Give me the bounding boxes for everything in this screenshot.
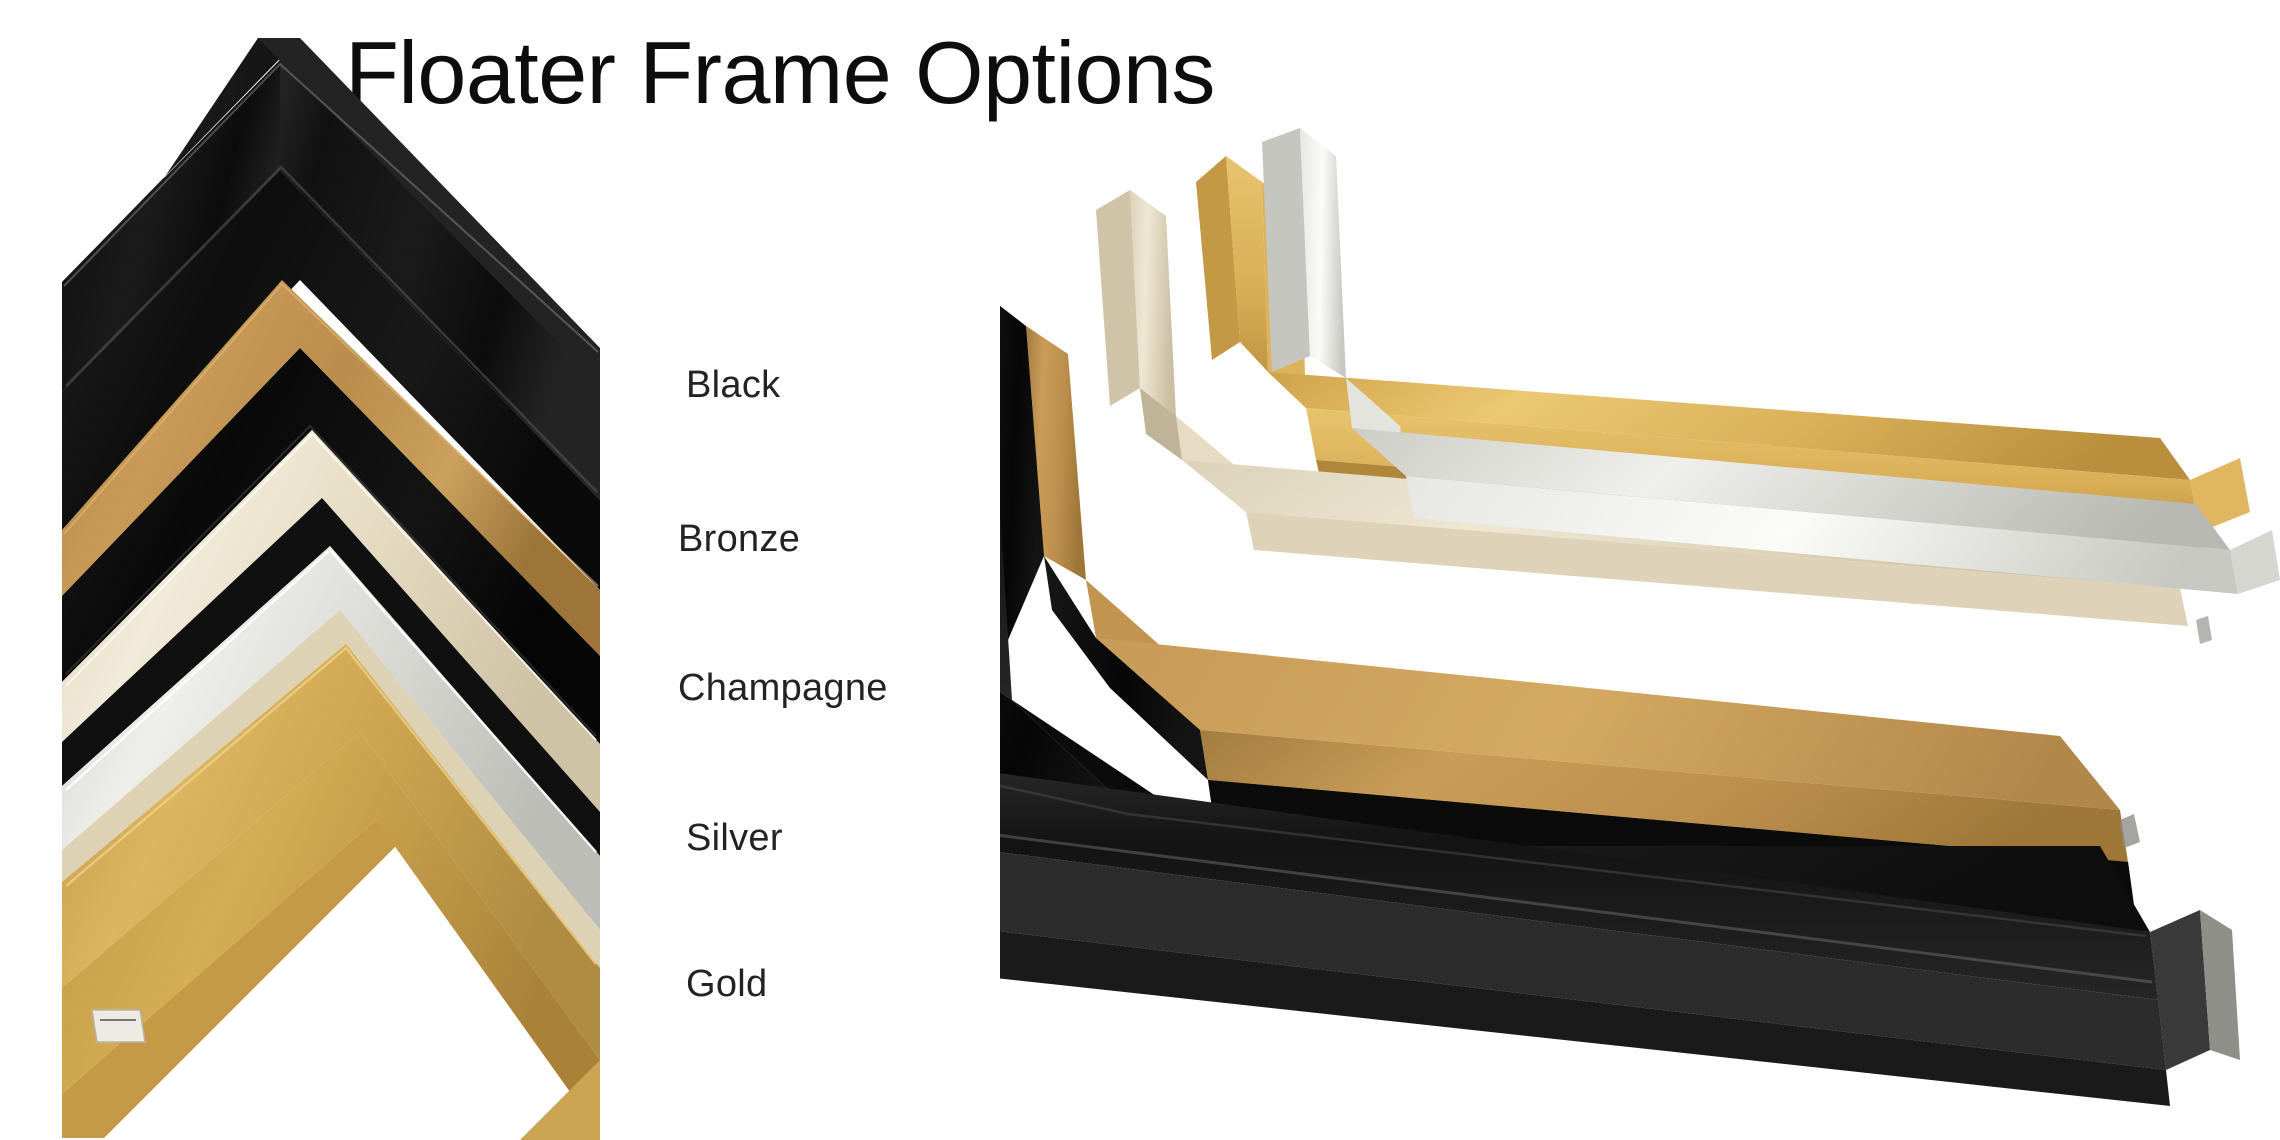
angled-frame-stack-illustration xyxy=(1000,120,2280,1140)
gold-frame-sticker xyxy=(92,1010,145,1042)
label-gold: Gold xyxy=(686,963,767,1006)
label-champagne: Champagne xyxy=(678,667,888,710)
corner-brad-2 xyxy=(2196,616,2212,644)
floater-frame-options-slide: Floater Frame Options xyxy=(0,0,2280,1140)
stacked-frame-corner-samples-image xyxy=(0,30,660,1140)
angled-frame-corner-samples-image xyxy=(1000,120,2280,1140)
frame-stack-illustration xyxy=(0,30,660,1140)
label-black: Black xyxy=(686,364,780,407)
label-bronze: Bronze xyxy=(678,518,800,561)
label-silver: Silver xyxy=(686,817,783,860)
silver-rail-right-end xyxy=(2230,530,2280,594)
